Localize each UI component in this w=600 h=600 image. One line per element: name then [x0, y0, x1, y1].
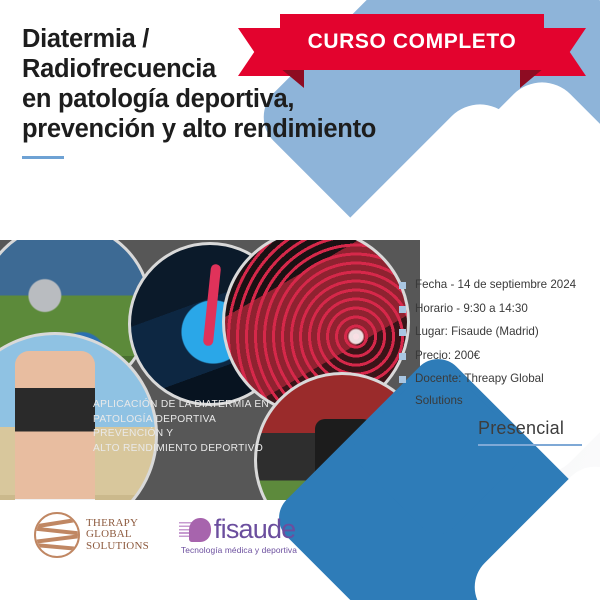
- square-bullet-icon: [399, 306, 406, 313]
- title-underline-rule: [22, 156, 64, 159]
- therapy-waves-icon: [34, 512, 80, 558]
- modality-block: Presencial: [478, 418, 582, 446]
- detail-row-horario: Horario - 9:30 a 14:30: [399, 302, 599, 316]
- curso-completo-ribbon: CURSO COMPLETO: [238, 14, 586, 90]
- detail-text-docente-continuation: Solutions: [415, 394, 599, 407]
- collage-caption-line-2: PATOLOGÍA DEPORTIVA: [93, 413, 313, 428]
- ribbon-fold-left: [280, 68, 304, 88]
- detail-row-fecha: Fecha - 14 de septiembre 2024: [399, 278, 599, 292]
- detail-text-fecha: Fecha - 14 de septiembre 2024: [415, 278, 576, 292]
- collage-caption-line-3: PREVENCIÓN Y: [93, 427, 313, 442]
- detail-row-precio: Precio: 200€: [399, 349, 599, 363]
- modality-label: Presencial: [478, 418, 582, 439]
- fisaude-wave-icon: [179, 516, 211, 544]
- detail-text-docente: Docente: Threapy Global: [415, 372, 544, 386]
- course-details-list: Fecha - 14 de septiembre 2024 Horario - …: [399, 278, 599, 407]
- fisaude-tagline: Tecnología médica y deportiva: [181, 545, 297, 555]
- logo-row: THERAPY GLOBAL SOLUTIONS fisaude Tecnolo…: [34, 512, 297, 558]
- square-bullet-icon: [399, 376, 406, 383]
- ribbon-band: CURSO COMPLETO: [280, 14, 544, 70]
- square-bullet-icon: [399, 353, 406, 360]
- detail-text-lugar: Lugar: Fisaude (Madrid): [415, 325, 539, 339]
- course-poster: Diatermia / Radiofrecuencia en patología…: [0, 0, 600, 600]
- detail-text-horario: Horario - 9:30 a 14:30: [415, 302, 528, 316]
- ribbon-label: CURSO COMPLETO: [308, 30, 517, 54]
- collage-caption-line-4: ALTO RENDIMIENTO DEPORTIVO: [93, 442, 313, 457]
- modality-underline-rule: [478, 444, 582, 446]
- detail-row-docente: Docente: Threapy Global: [399, 372, 599, 386]
- therapy-word-line-3: SOLUTIONS: [86, 541, 149, 553]
- collage-caption-line-1: APLICACIÓN DE LA DIATERMIA EN: [93, 398, 313, 413]
- square-bullet-icon: [399, 282, 406, 289]
- detail-row-lugar: Lugar: Fisaude (Madrid): [399, 325, 599, 339]
- detail-text-precio: Precio: 200€: [415, 349, 480, 363]
- fisaude-wordmark: fisaude: [214, 516, 295, 543]
- collage-caption: APLICACIÓN DE LA DIATERMIA EN PATOLOGÍA …: [93, 398, 313, 456]
- therapy-global-solutions-logo: THERAPY GLOBAL SOLUTIONS: [34, 512, 149, 558]
- square-bullet-icon: [399, 329, 406, 336]
- title-line-4: prevención y alto rendimiento: [22, 114, 352, 144]
- fisaude-logo-row: fisaude: [179, 516, 297, 544]
- fisaude-logo: fisaude Tecnología médica y deportiva: [179, 516, 297, 555]
- therapy-global-solutions-wordmark: THERAPY GLOBAL SOLUTIONS: [86, 518, 149, 553]
